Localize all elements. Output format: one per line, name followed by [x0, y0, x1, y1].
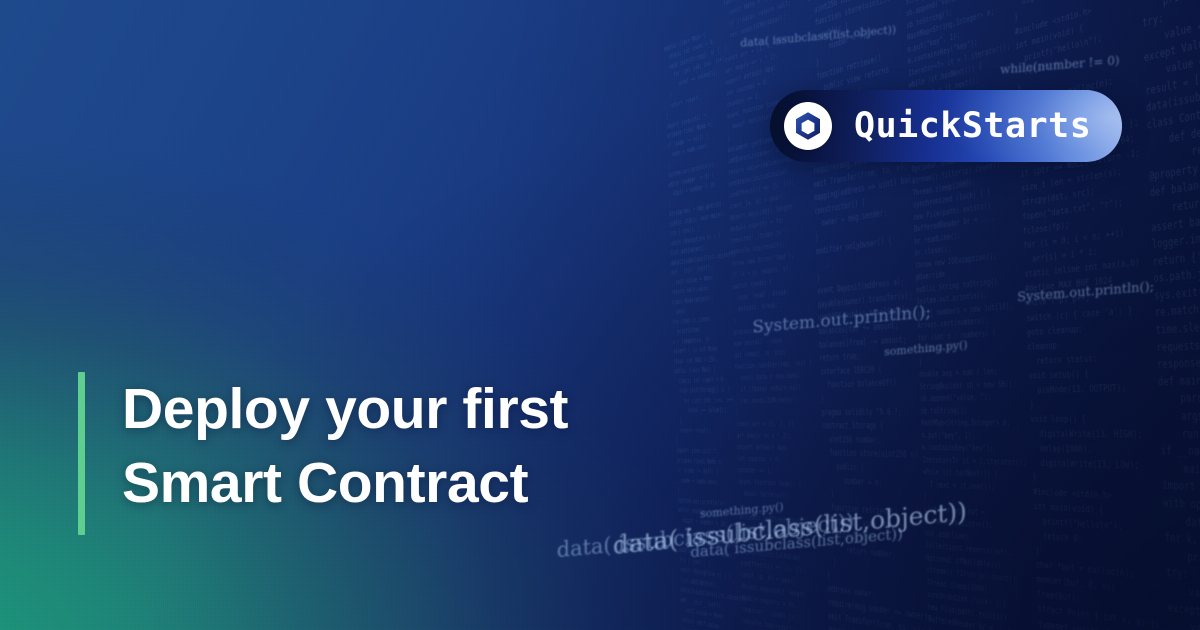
quickstarts-badge[interactable]: QuickStarts	[770, 90, 1122, 162]
page-title-line-1: Deploy your first	[122, 372, 568, 446]
page-title-line-2: Smart Contract	[122, 446, 568, 520]
green-accent-bar	[78, 372, 85, 535]
quickstarts-banner: public class Main { static int count = 0…	[0, 0, 1200, 630]
badge-label: QuickStarts	[854, 106, 1091, 146]
headline-block: Deploy your first Smart Contract	[78, 372, 568, 535]
chainlink-hexagon-logo-icon	[784, 102, 832, 150]
page-title: Deploy your first Smart Contract	[85, 372, 568, 520]
